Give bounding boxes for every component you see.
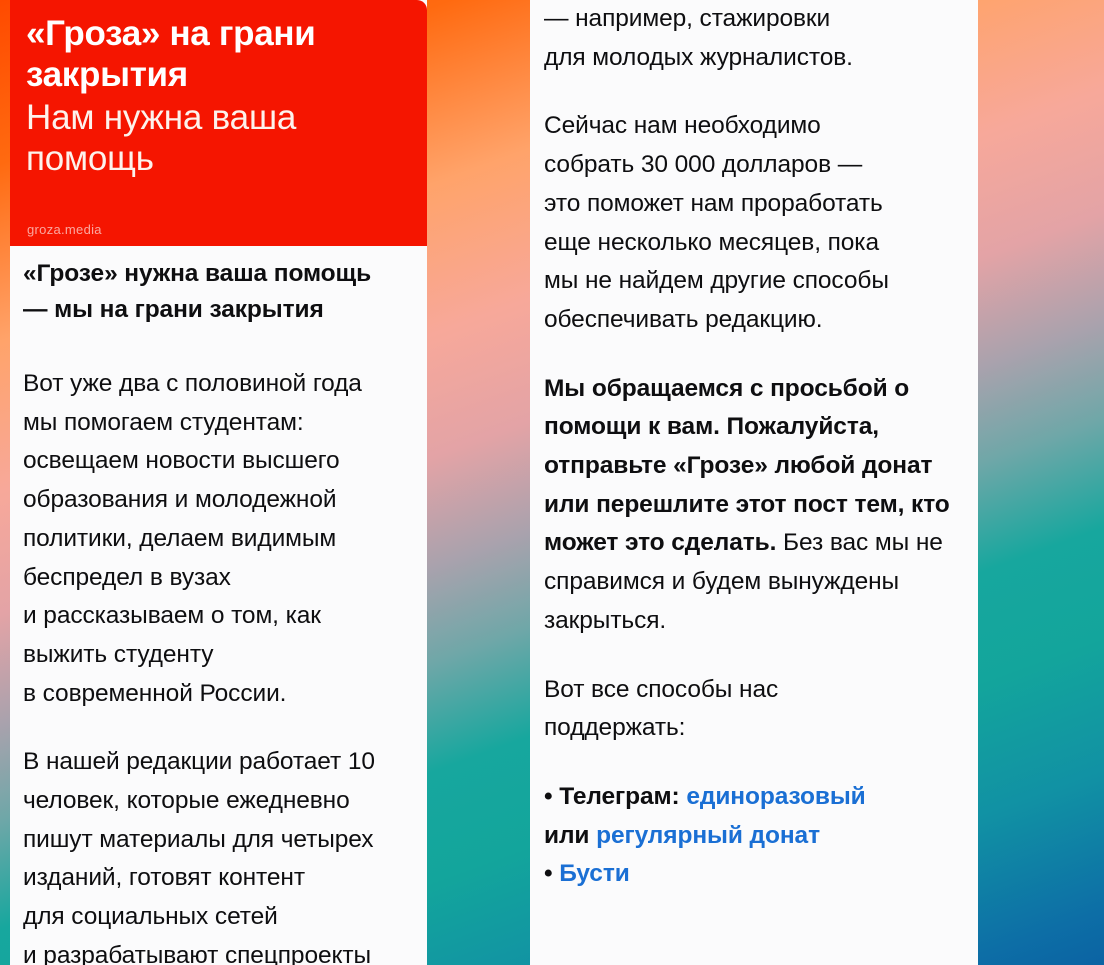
post-text-right: — например, стажировки для молодых журна… — [530, 0, 978, 894]
list-item-boosty: • Бусти — [544, 855, 964, 894]
banner-headline-bold: «Гроза» на грани закрытия — [26, 14, 411, 96]
link-telegram-recurring[interactable]: регулярный донат — [596, 822, 820, 849]
telegram-label-text: Телеграм: — [559, 783, 679, 810]
post-cover-banner: «Гроза» на грани закрытия Нам нужна ваша… — [10, 0, 427, 246]
post-title: «Грозе» нужна ваша помощь — мы на грани … — [23, 256, 414, 327]
paragraph-support-intro: Вот все способы нас поддержать: — [544, 671, 964, 748]
conjunction-or: или — [544, 822, 589, 849]
paragraph-appeal: Мы обращаемся с просьбой о помощи к вам.… — [544, 370, 964, 641]
paragraph-team: В нашей редакции работает 10 человек, ко… — [23, 743, 414, 965]
link-boosty[interactable]: Бусти — [559, 860, 630, 887]
link-telegram-one-time[interactable]: единоразовый — [686, 783, 865, 810]
paragraph-intro: Вот уже два с половиной года мы помогаем… — [23, 365, 414, 713]
post-text-left: «Грозе» нужна ваша помощь — мы на грани … — [10, 256, 427, 965]
banner-headline-light: Нам нужна ваша помощь — [26, 98, 411, 180]
list-item-telegram: • Телеграм: единоразовыйили регулярный д… — [544, 778, 964, 855]
paragraph-internships: — например, стажировки для молодых журна… — [544, 0, 964, 77]
support-links-list: • Телеграм: единоразовыйили регулярный д… — [544, 778, 964, 894]
post-screenshot-left: «Гроза» на грани закрытия Нам нужна ваша… — [10, 0, 427, 965]
post-screenshot-right: — например, стажировки для молодых журна… — [530, 0, 978, 965]
paragraph-fundraising-goal: Сейчас нам необходимо собрать 30 000 дол… — [544, 107, 964, 339]
watermark-groza-media: groza.media — [27, 222, 102, 237]
